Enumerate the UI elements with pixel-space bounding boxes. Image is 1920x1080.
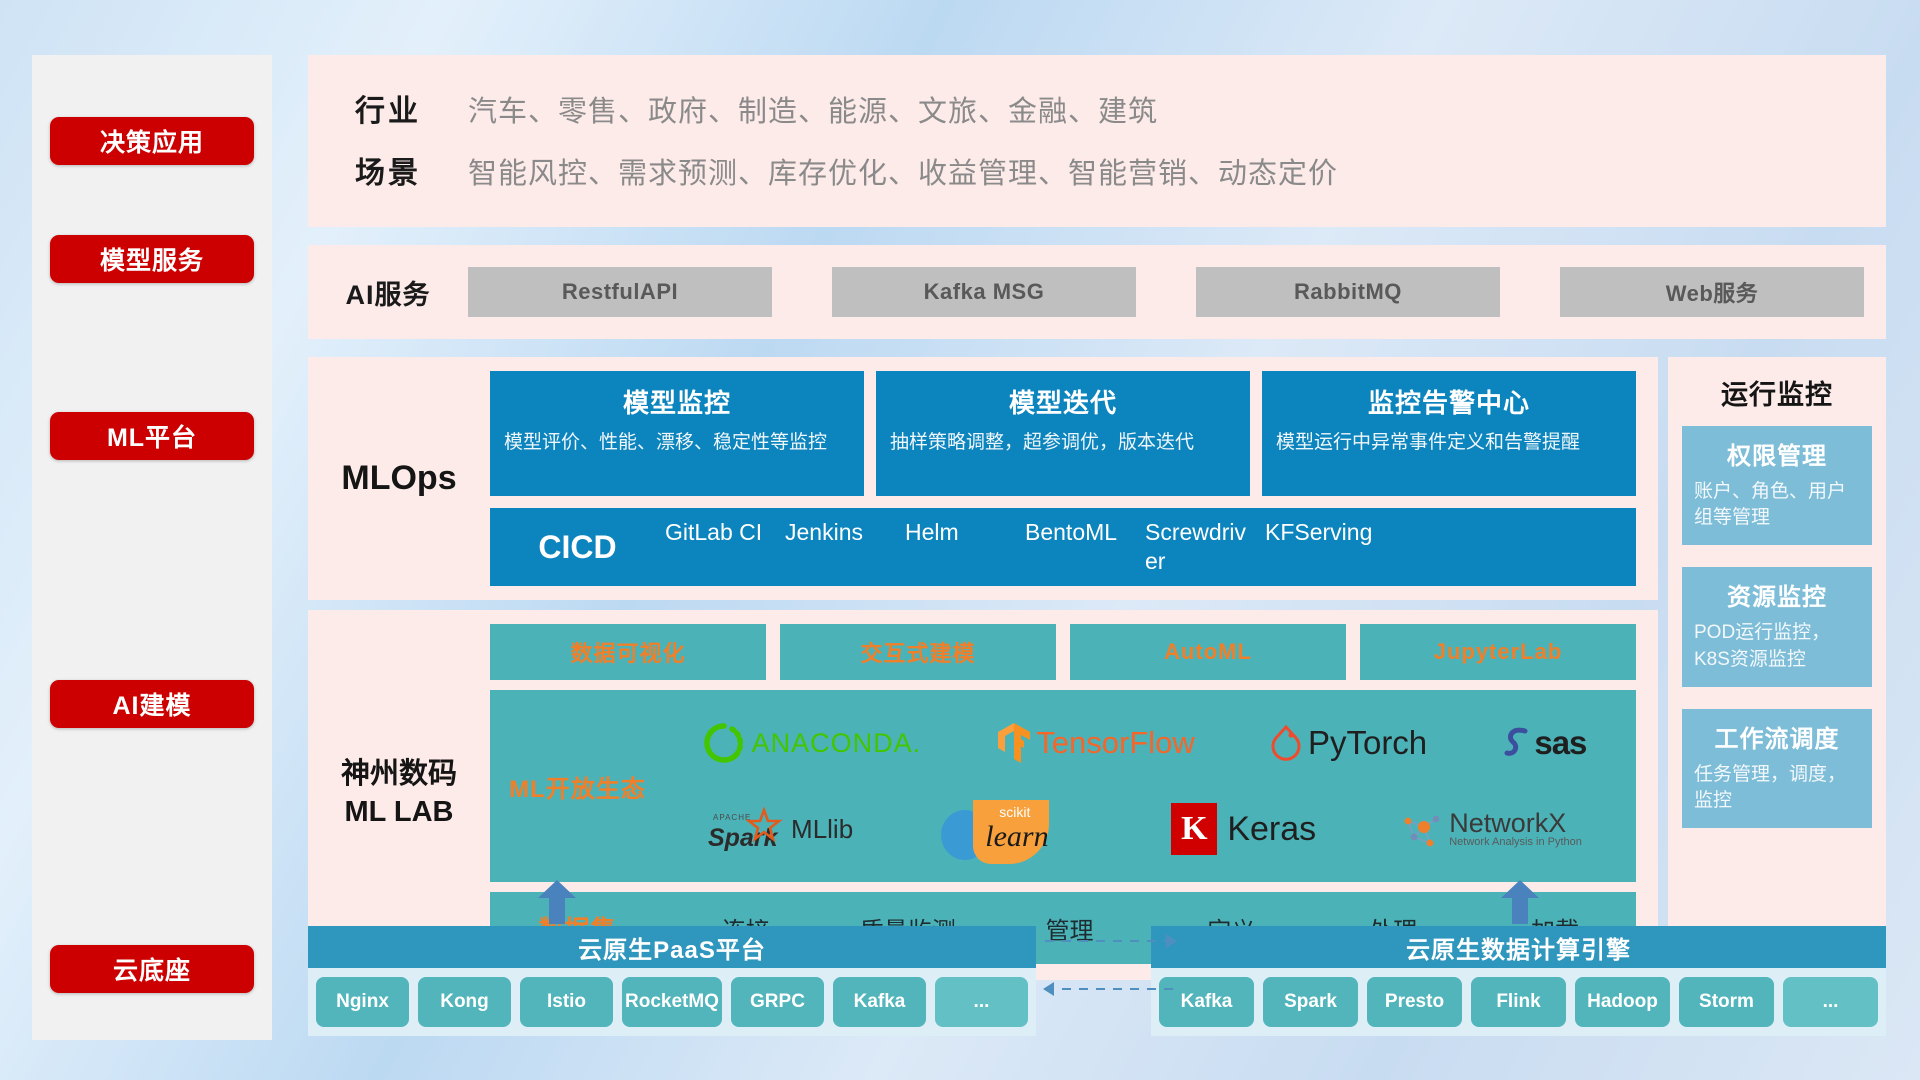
mlops-body: 模型监控 模型评价、性能、漂移、稳定性等监控 模型迭代 抽样策略调整，超参调优，… — [490, 371, 1636, 586]
logo-row-2: APACHE Spark MLlib — [665, 786, 1624, 872]
keras-icon: K — [1171, 803, 1217, 855]
chip-kong[interactable]: Kong — [418, 977, 511, 1027]
mlops-card-desc: 模型运行中异常事件定义和告警提醒 — [1276, 430, 1622, 456]
svg-text:Spark: Spark — [708, 824, 779, 852]
cicd-bar: CICD GitLab CI Jenkins Helm BentoML Scre… — [490, 508, 1636, 586]
monitoring-card-title: 资源监控 — [1694, 577, 1860, 612]
ai-service-box-group: RestfulAPI Kafka MSG RabbitMQ Web服务 — [468, 267, 1886, 317]
cloud-paas-chip-group: Nginx Kong Istio RocketMQ GRPC Kafka ... — [308, 968, 1036, 1036]
connector-arrow-right — [1045, 940, 1175, 954]
rail-item-cloud-base[interactable]: 云底座 — [50, 945, 254, 993]
mlops-card-desc: 模型评价、性能、漂移、稳定性等监控 — [504, 430, 850, 456]
chip-flink[interactable]: Flink — [1471, 977, 1566, 1027]
main-column: 行业 汽车、零售、政府、制造、能源、文旅、金融、建筑 场景 智能风控、需求预测、… — [308, 55, 1886, 980]
networkx-icon — [1400, 807, 1444, 851]
mllib-wordmark: MLlib — [791, 814, 853, 845]
sas-logo: sas — [1502, 724, 1586, 762]
chip-more[interactable]: ... — [935, 977, 1028, 1027]
chip-kafka[interactable]: Kafka — [833, 977, 926, 1027]
monitoring-card-desc: 任务管理，调度，监控 — [1694, 762, 1860, 814]
anaconda-wordmark: ANACONDA. — [752, 728, 922, 759]
keras-wordmark: Keras — [1227, 810, 1316, 849]
sas-wordmark: sas — [1534, 724, 1586, 762]
ml-ecosystem-logos: ANACONDA. Te — [665, 700, 1624, 872]
mlops-card-alert-center[interactable]: 监控告警中心 模型运行中异常事件定义和告警提醒 — [1262, 371, 1636, 496]
rail-item-ml-platform[interactable]: ML平台 — [50, 412, 254, 460]
mlops-card-title: 模型监控 — [504, 383, 850, 420]
business-section: 行业 汽车、零售、政府、制造、能源、文旅、金融、建筑 场景 智能风控、需求预测、… — [308, 55, 1886, 227]
chip-presto[interactable]: Presto — [1367, 977, 1462, 1027]
mllab-tab-group: 数据可视化 交互式建模 AutoML JupyterLab — [490, 624, 1636, 680]
monitoring-card-permission[interactable]: 权限管理 账户、角色、用户组等管理 — [1682, 426, 1872, 545]
ai-service-label: AI服务 — [308, 273, 468, 312]
cicd-item-jenkins[interactable]: Jenkins — [785, 518, 905, 576]
monitoring-card-workflow[interactable]: 工作流调度 任务管理，调度，监控 — [1682, 709, 1872, 828]
arrow-up-icon — [538, 880, 576, 924]
ml-ecosystem-label: ML开放生态 — [490, 769, 665, 804]
scikit-word: scikit — [999, 804, 1030, 820]
tensorflow-logo: TensorFlow — [996, 721, 1195, 765]
chip-more[interactable]: ... — [1783, 977, 1878, 1027]
mlops-card-title: 监控告警中心 — [1276, 383, 1622, 420]
diagram-canvas: 决策应用 模型服务 ML平台 AI建模 云底座 行业 汽车、零售、政府、制造、能… — [0, 0, 1920, 1080]
monitoring-title: 运行监控 — [1668, 357, 1886, 426]
monitoring-card-desc: POD运行监控，K8S资源监控 — [1694, 620, 1860, 672]
cloud-connector-arrows — [1045, 940, 1175, 1002]
scikit-learn-logo: scikit learn — [937, 794, 1087, 864]
monitoring-card-title: 权限管理 — [1694, 436, 1860, 471]
business-value-industry: 汽车、零售、政府、制造、能源、文旅、金融、建筑 — [468, 88, 1158, 130]
cicd-item-group: GitLab CI Jenkins Helm BentoML Screwdriv… — [665, 518, 1636, 576]
ml-ecosystem-panel: ML开放生态 ANACONDA. — [490, 690, 1636, 882]
chip-rocketmq[interactable]: RocketMQ — [622, 977, 722, 1027]
mllab-label-line1: 神州数码 — [341, 756, 457, 794]
chip-spark[interactable]: Spark — [1263, 977, 1358, 1027]
anaconda-icon — [703, 722, 745, 764]
ai-service-box-rabbitmq[interactable]: RabbitMQ — [1196, 267, 1500, 317]
cicd-item-gitlab-ci[interactable]: GitLab CI — [665, 518, 785, 576]
business-row-scenario: 场景 智能风控、需求预测、库存优化、收益管理、智能营销、动态定价 — [308, 139, 1886, 201]
sas-icon — [1502, 724, 1532, 762]
mlops-card-title: 模型迭代 — [890, 383, 1236, 420]
connector-arrow-left — [1045, 988, 1175, 1002]
cloud-data-engine-chip-group: Kafka Spark Presto Flink Hadoop Storm ..… — [1151, 968, 1886, 1036]
logo-row-1: ANACONDA. Te — [665, 700, 1624, 786]
tab-automl[interactable]: AutoML — [1070, 624, 1346, 680]
monitoring-card-title: 工作流调度 — [1694, 719, 1860, 754]
cicd-item-helm[interactable]: Helm — [905, 518, 1025, 576]
chip-istio[interactable]: Istio — [520, 977, 613, 1027]
ai-service-section: AI服务 RestfulAPI Kafka MSG RabbitMQ Web服务 — [308, 245, 1886, 339]
cicd-item-kfserving[interactable]: KFServing — [1265, 518, 1385, 576]
mlops-card-desc: 抽样策略调整，超参调优，版本迭代 — [890, 430, 1236, 456]
cloud-data-engine-group: 云原生数据计算引擎 Kafka Spark Presto Flink Hadoo… — [1151, 880, 1886, 1036]
mllab-label-line2: ML LAB — [344, 794, 453, 832]
networkx-wordmark: NetworkX — [1449, 810, 1582, 837]
mlops-card-model-iteration[interactable]: 模型迭代 抽样策略调整，超参调优，版本迭代 — [876, 371, 1250, 496]
networkx-logo: NetworkX Network Analysis in Python — [1400, 807, 1582, 851]
ai-service-box-kafka-msg[interactable]: Kafka MSG — [832, 267, 1136, 317]
spark-icon: APACHE Spark — [707, 806, 785, 852]
business-value-scenario: 智能风控、需求预测、库存优化、收益管理、智能营销、动态定价 — [468, 150, 1338, 192]
business-row-industry: 行业 汽车、零售、政府、制造、能源、文旅、金融、建筑 — [308, 77, 1886, 139]
mlops-card-model-monitoring[interactable]: 模型监控 模型评价、性能、漂移、稳定性等监控 — [490, 371, 864, 496]
keras-logo: K Keras — [1171, 803, 1316, 855]
tab-jupyterlab[interactable]: JupyterLab — [1360, 624, 1636, 680]
tab-interactive-modeling[interactable]: 交互式建模 — [780, 624, 1056, 680]
cicd-label: CICD — [490, 529, 665, 566]
cloud-paas-group: 云原生PaaS平台 Nginx Kong Istio RocketMQ GRPC… — [308, 880, 1036, 1036]
data-engine-arrow-wrap — [1151, 880, 1886, 926]
tensorflow-icon — [996, 721, 1032, 765]
mlops-card-group: 模型监控 模型评价、性能、漂移、稳定性等监控 模型迭代 抽样策略调整，超参调优，… — [490, 371, 1636, 496]
anaconda-logo: ANACONDA. — [703, 722, 922, 764]
pytorch-icon — [1270, 723, 1302, 763]
mlops-label: MLOps — [308, 371, 490, 586]
monitoring-card-desc: 账户、角色、用户组等管理 — [1694, 479, 1860, 531]
pytorch-logo: PyTorch — [1270, 723, 1427, 763]
arrow-up-icon — [1501, 880, 1539, 924]
networkx-subtitle: Network Analysis in Python — [1449, 837, 1582, 848]
arrow-left-icon — [1043, 982, 1054, 996]
chip-hadoop[interactable]: Hadoop — [1575, 977, 1670, 1027]
chip-nginx[interactable]: Nginx — [316, 977, 409, 1027]
rail-item-model-service[interactable]: 模型服务 — [50, 235, 254, 283]
cicd-item-bentoml[interactable]: BentoML — [1025, 518, 1145, 576]
chip-grpc[interactable]: GRPC — [731, 977, 824, 1027]
pytorch-wordmark: PyTorch — [1308, 724, 1427, 762]
business-key-scenario: 场景 — [308, 148, 468, 192]
paas-arrow-wrap — [308, 880, 1036, 926]
ai-service-box-restfulapi[interactable]: RestfulAPI — [468, 267, 772, 317]
ai-service-box-web[interactable]: Web服务 — [1560, 267, 1864, 317]
cloud-data-engine-header: 云原生数据计算引擎 — [1151, 926, 1886, 968]
cicd-item-screwdriver[interactable]: Screwdriver — [1145, 518, 1265, 576]
business-key-industry: 行业 — [308, 86, 468, 130]
learn-word: learn — [985, 820, 1048, 854]
chip-storm[interactable]: Storm — [1679, 977, 1774, 1027]
mlops-block: MLOps 模型监控 模型评价、性能、漂移、稳定性等监控 模型迭代 抽样策略调整… — [308, 357, 1658, 600]
spark-mllib-logo: APACHE Spark MLlib — [707, 806, 853, 852]
svg-text:APACHE: APACHE — [713, 813, 751, 822]
rail-item-decision-app[interactable]: 决策应用 — [50, 117, 254, 165]
rail-item-ai-modeling[interactable]: AI建模 — [50, 680, 254, 728]
arrow-right-icon — [1166, 934, 1177, 948]
tensorflow-wordmark: TensorFlow — [1036, 725, 1195, 761]
monitoring-card-resource[interactable]: 资源监控 POD运行监控，K8S资源监控 — [1682, 567, 1872, 686]
layer-rail: 决策应用 模型服务 ML平台 AI建模 云底座 — [32, 55, 272, 1040]
tab-data-visualization[interactable]: 数据可视化 — [490, 624, 766, 680]
cloud-paas-header: 云原生PaaS平台 — [308, 926, 1036, 968]
